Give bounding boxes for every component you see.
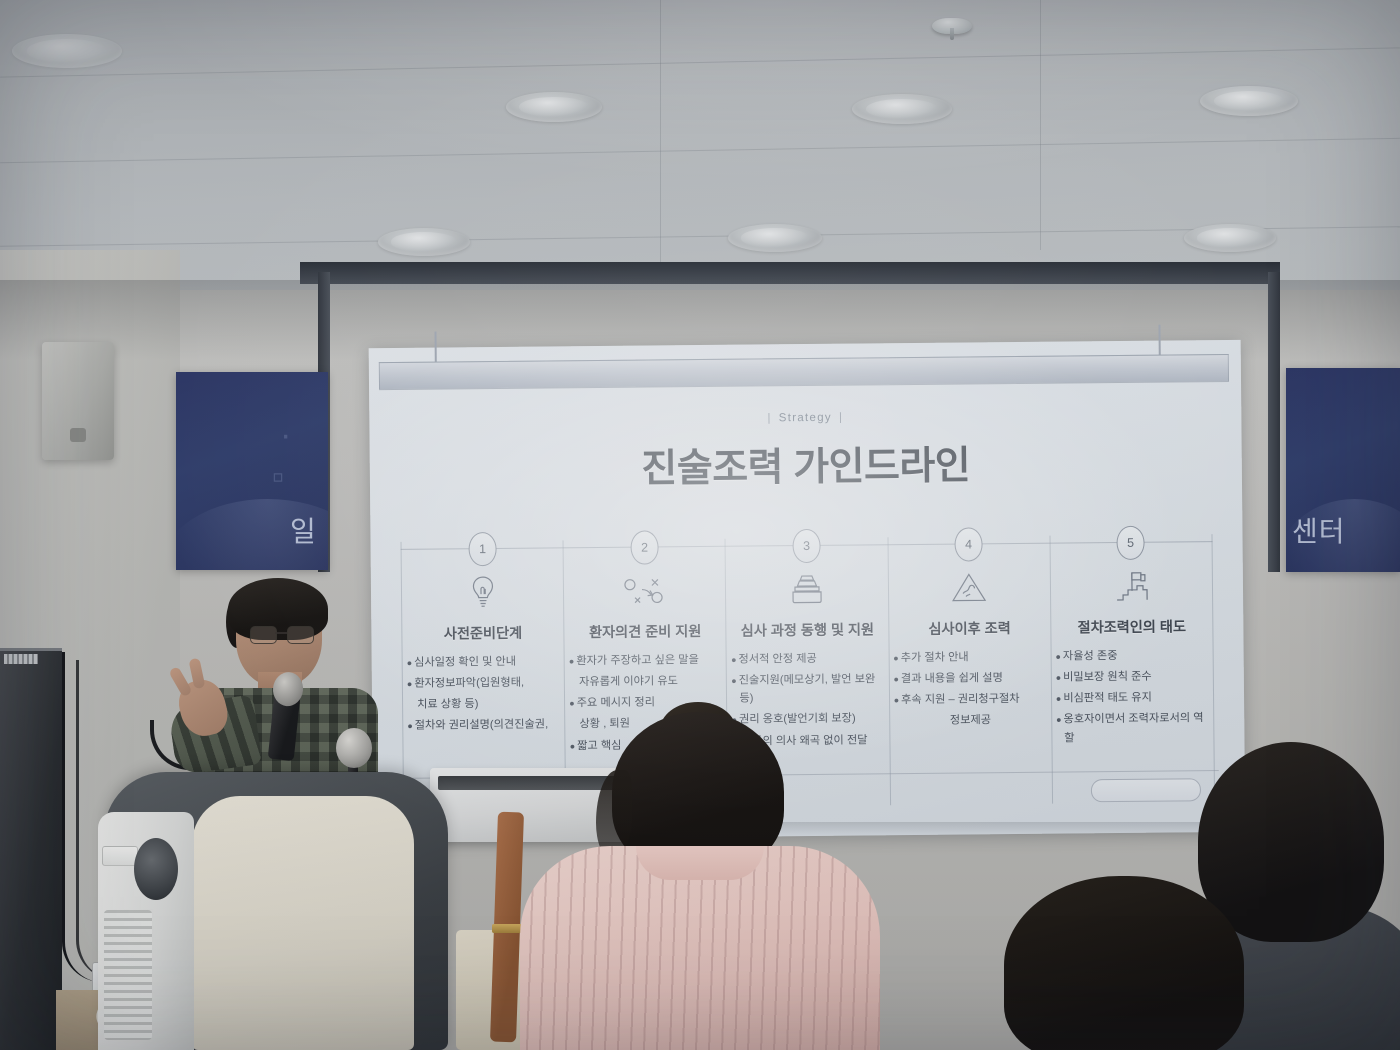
air-purifier-vent (134, 838, 178, 900)
bullet-item: ●심사일정 확인 및 안내 (407, 652, 560, 672)
bullet-text: 짧고 핵심 (577, 739, 621, 751)
column-3-heading: 심사 과정 동행 및 지원 (727, 619, 888, 641)
slide-footer-badge (1091, 778, 1201, 802)
air-purifier-panel (102, 846, 138, 866)
ceiling-downlight (1184, 224, 1276, 252)
glasses-lens-left (250, 626, 277, 644)
leather-bag-buckle (492, 924, 522, 933)
flag-summit-icon (1051, 562, 1213, 610)
slide-eyebrow: |Strategy| (395, 408, 1215, 428)
screen-hook-rod (435, 332, 437, 366)
ceiling-downlight (852, 94, 952, 124)
speaker-grille (70, 428, 86, 442)
bullet-dot: ● (1056, 694, 1062, 704)
bullet-continuation: 자유롭게 이야기 유도 (569, 672, 722, 692)
stacked-trays-icon (726, 565, 888, 613)
ceiling-downlight (378, 228, 470, 256)
slide-column-4: 심사이후 조력 ●추가 절차 안내 ●결과 내용을 쉽게 설명 ●후속 지원 –… (887, 536, 1052, 806)
bullet-dot: ● (894, 695, 900, 705)
microphone-secondary (336, 728, 372, 768)
slide-content: |Strategy| 진술조력 가인드라인 1 2 3 4 5 (395, 386, 1219, 818)
lectern-panel (192, 796, 414, 1050)
banner-right: 센터 (1286, 368, 1400, 572)
bullet-dot: ● (569, 699, 575, 709)
banner-left: · ▫ 일 (176, 372, 328, 570)
bullet-text: 후속 지원 – 권리청구절차 (901, 693, 1020, 706)
bullet-dot: ● (731, 655, 737, 665)
bullet-text: 추가 절차 안내 (901, 651, 969, 664)
ceiling-downlight (12, 34, 122, 68)
screen-mount-band (300, 262, 1280, 284)
bullet-dot: ● (893, 674, 899, 684)
ceiling-seam (660, 0, 661, 270)
audience-head-2 (1198, 742, 1384, 942)
bullet-item: ●정서적 안정 제공 (731, 649, 884, 669)
air-purifier-grill (104, 910, 152, 1040)
bullet-text: 권리 옹호(발언기회 보장) (739, 713, 856, 726)
ceiling-downlight (506, 92, 602, 122)
slide-column-5: 절차조력인의 태도 ●자율성 존중 ●비밀보장 원칙 준수 ●비심판적 태도 유… (1049, 534, 1215, 804)
bullet-dot: ● (1055, 652, 1061, 662)
slide-title: 진술조력 가인드라인 (396, 432, 1216, 496)
bullet-continuation: 정보제공 (894, 711, 1047, 731)
banner-right-text: 센터 (1292, 510, 1346, 550)
projection-screen: |Strategy| 진술조력 가인드라인 1 2 3 4 5 (369, 340, 1246, 840)
bullet-text: 주요 메시지 정리 (577, 697, 655, 710)
bullet-dot: ● (569, 656, 575, 666)
bullet-dot: ● (407, 679, 413, 689)
bullet-item: ●추가 절차 안내 (893, 648, 1046, 668)
bullet-text: 환자정보파악(입원형태, (414, 677, 524, 690)
wall-speaker (42, 342, 114, 460)
bullet-dot: ● (407, 721, 413, 731)
bullet-text: 정서적 안정 제공 (738, 653, 816, 666)
screen-hook-rod (1158, 325, 1160, 357)
fire-sprinkler-icon (932, 18, 972, 34)
bullet-text: 비밀보장 원칙 준수 (1063, 671, 1152, 684)
ceiling-downlight (728, 224, 822, 252)
ceiling-downlight (1200, 86, 1298, 116)
bullet-item: ●환자정보파악(입원형태, (407, 674, 560, 694)
column-2-heading: 환자의견 준비 지원 (565, 621, 726, 643)
bullet-dot: ● (731, 676, 737, 686)
bullet-text: 심사일정 확인 및 안내 (414, 656, 516, 669)
equipment-rack (0, 648, 62, 1050)
bullet-item: ●환자가 주장하고 싶은 말을 (569, 651, 722, 671)
bullet-text: 환자가 주장하고 싶은 말을 (576, 654, 699, 667)
presenter-glasses (250, 626, 312, 642)
banner-faint-glyph: · (280, 416, 291, 455)
audience-head-3 (1004, 876, 1244, 1050)
bullet-dot: ● (407, 658, 413, 668)
banner-left-text: 일 (290, 510, 317, 550)
column-4-heading: 심사이후 조력 (889, 618, 1050, 640)
glasses-bridge (275, 632, 287, 634)
bullet-item: ●자율성 존중 (1055, 646, 1208, 666)
bullet-continuation: 치료 상황 등) (407, 695, 560, 715)
eyebrow-label: Strategy (779, 412, 832, 425)
bullet-dot: ● (570, 741, 576, 751)
column-5-heading: 절차조력인의 태도 (1051, 616, 1212, 638)
bullet-item: ●비밀보장 원칙 준수 (1056, 667, 1209, 687)
bullet-text: 비심판적 태도 유지 (1063, 692, 1152, 705)
photo-scene: · ▫ 일 센터 |Strategy| 진술조력 가인드라인 1 2 3 (0, 0, 1400, 1050)
bullet-item: ●절차와 권리설명(의견진술권, (407, 716, 560, 736)
bullet-item: ●권리 옹호(발언기회 보장) (732, 710, 885, 730)
bullet-item: ●비심판적 태도 유지 (1056, 688, 1209, 708)
bullet-dot: ● (1056, 715, 1062, 725)
bullet-dot: ● (1056, 673, 1062, 683)
rack-label (4, 654, 38, 664)
column-4-bullets: ●추가 절차 안내 ●결과 내용을 쉽게 설명 ●후속 지원 – 권리청구절차 … (893, 648, 1047, 734)
bullet-item: ●후속 지원 – 권리청구절차 (894, 690, 1047, 710)
column-1-heading: 사전준비단계 (402, 622, 563, 644)
lightbulb-icon (402, 568, 564, 616)
bullet-text: 진술지원(메모상기, 발언 보완 등) (739, 673, 876, 704)
glasses-lens-right (287, 626, 314, 644)
banner-faint-glyph: ▫ (272, 458, 284, 497)
eyebrow-bar-right: | (839, 412, 843, 424)
audience-shirt-collar (636, 846, 764, 880)
bullet-text: 절차와 권리설명(의견진술권, (415, 719, 549, 732)
eyebrow-bar-left: | (767, 412, 771, 424)
bullet-text: 결과 내용을 쉽게 설명 (901, 672, 1003, 685)
mountain-triangle-icon (888, 564, 1050, 612)
strategy-tactics-icon (564, 567, 726, 615)
column-5-bullets: ●자율성 존중 ●비밀보장 원칙 준수 ●비심판적 태도 유지 ●옹호자이면서 … (1055, 646, 1209, 750)
screen-rail-right (1268, 272, 1280, 572)
bullet-text: 자율성 존중 (1063, 650, 1118, 663)
bullet-item: ●진술지원(메모상기, 발언 보완 등) (731, 670, 885, 708)
bullet-text: 옹호자이면서 조력자로서의 역할 (1063, 713, 1203, 744)
ceiling-seam (1040, 0, 1041, 250)
column-1-bullets: ●심사일정 확인 및 안내 ●환자정보파악(입원형태, 치료 상황 등) ●절차… (407, 652, 561, 738)
bullet-dot: ● (893, 653, 899, 663)
bullet-item: ●옹호자이면서 조력자로서의 역할 (1056, 710, 1210, 748)
bullet-item: ●결과 내용을 쉽게 설명 (893, 669, 1046, 689)
